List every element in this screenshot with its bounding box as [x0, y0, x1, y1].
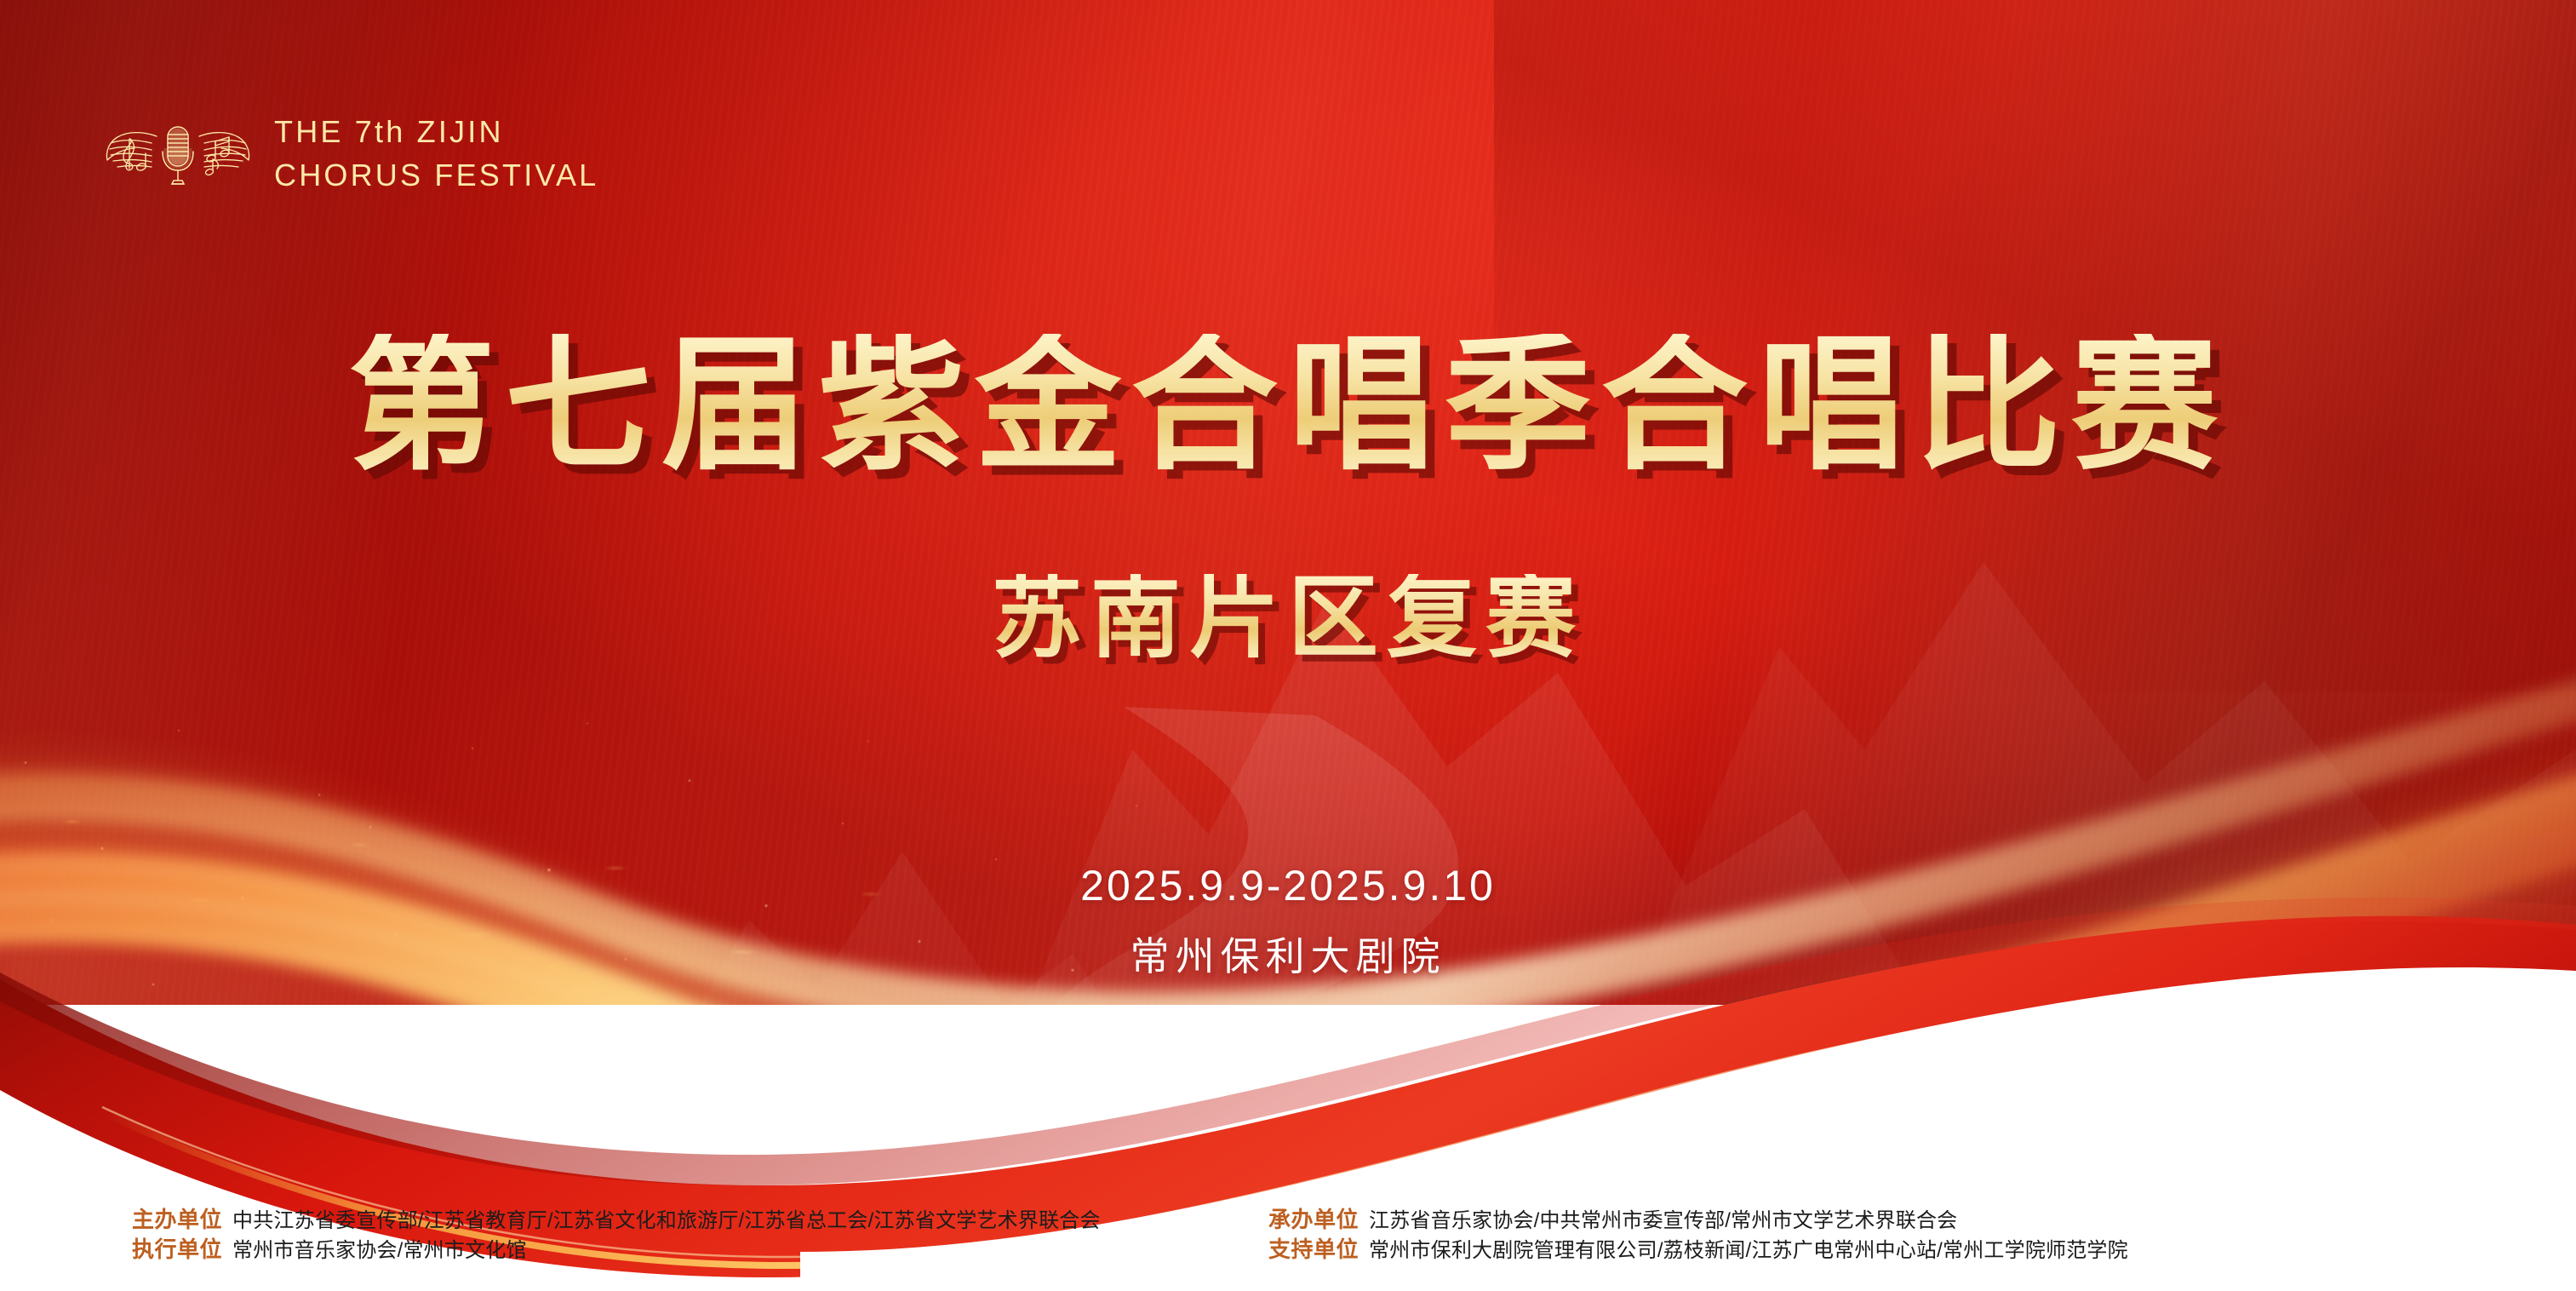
footer-value: 江苏省音乐家协会/中共常州市委宣传部/常州市文学艺术界联合会	[1369, 1203, 1957, 1233]
main-title: 第七届紫金合唱季合唱比赛	[0, 334, 2576, 480]
footer-label: 主办单位	[132, 1202, 222, 1234]
footer-value: 常州市音乐家协会/常州市文化馆	[232, 1233, 527, 1263]
footer-row: 承办单位 江苏省音乐家协会/中共常州市委宣传部/常州市文学艺术界联合会	[1268, 1202, 2128, 1232]
footer-value: 中共江苏省委宣传部/江苏省教育厅/江苏省文化和旅游厅/江苏省总工会/江苏省文学艺…	[232, 1203, 1101, 1233]
footer-credits: 主办单位 中共江苏省委宣传部/江苏省教育厅/江苏省文化和旅游厅/江苏省总工会/江…	[0, 1202, 2576, 1291]
footer-left-column: 主办单位 中共江苏省委宣传部/江苏省教育厅/江苏省文化和旅游厅/江苏省总工会/江…	[132, 1202, 1101, 1262]
footer-label: 支持单位	[1268, 1232, 1359, 1264]
logo-line-2: CHORUS FESTIVAL	[274, 153, 598, 197]
event-venue: 常州保利大剧院	[0, 935, 2576, 978]
event-date: 2025.9.9-2025.9.10	[0, 863, 2576, 909]
festival-logo: THE 7th ZIJIN CHORUS FESTIVAL	[100, 66, 598, 240]
footer-right-column: 承办单位 江苏省音乐家协会/中共常州市委宣传部/常州市文学艺术界联合会 支持单位…	[1268, 1202, 2128, 1262]
footer-row: 支持单位 常州市保利大剧院管理有限公司/荔枝新闻/江苏广电常州中心站/常州工学院…	[1268, 1232, 2128, 1262]
poster-banner: THE 7th ZIJIN CHORUS FESTIVAL 第七届紫金合唱季合唱…	[0, 0, 2576, 1291]
winged-microphone-music-notes-icon	[100, 111, 255, 196]
footer-label: 承办单位	[1268, 1202, 1359, 1234]
footer-label: 执行单位	[132, 1232, 222, 1264]
footer-row: 主办单位 中共江苏省委宣传部/江苏省教育厅/江苏省文化和旅游厅/江苏省总工会/江…	[132, 1202, 1101, 1232]
sub-title: 苏南片区复赛	[0, 574, 2576, 664]
logo-wordmark: THE 7th ZIJIN CHORUS FESTIVAL	[274, 66, 598, 240]
footer-value: 常州市保利大剧院管理有限公司/荔枝新闻/江苏广电常州中心站/常州工学院师范学院	[1369, 1233, 2128, 1263]
footer-row: 执行单位 常州市音乐家协会/常州市文化馆	[132, 1232, 1101, 1262]
logo-line-1: THE 7th ZIJIN	[274, 114, 504, 149]
event-meta: 2025.9.9-2025.9.10 常州保利大剧院	[0, 863, 2576, 978]
